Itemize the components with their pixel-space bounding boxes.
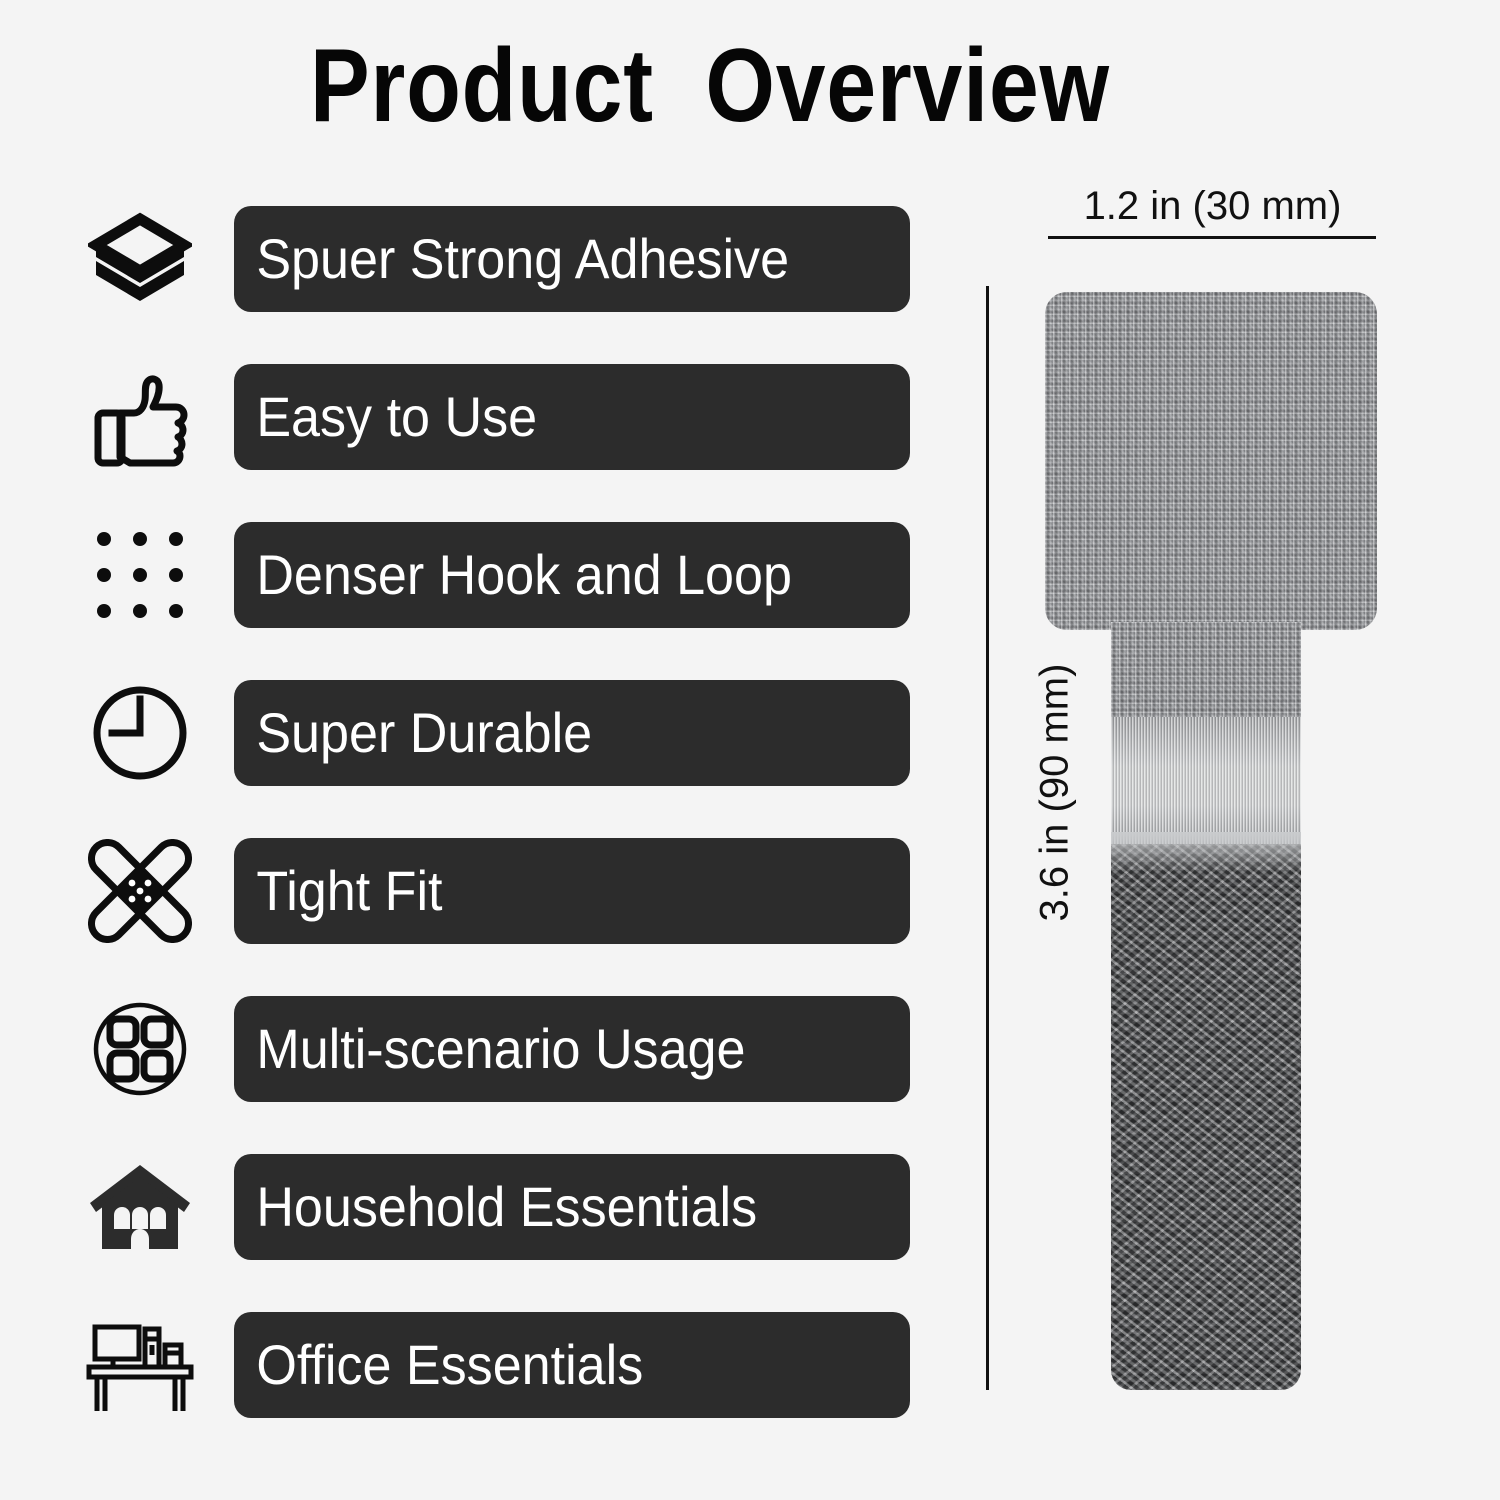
layers-icon [78, 206, 202, 312]
height-dimension-line [986, 286, 989, 1390]
feature-row-adhesive: Spuer Strong Adhesive [0, 206, 960, 364]
strap-hook-section [1111, 844, 1301, 1390]
feature-pill-multi-scenario[interactable]: Multi-scenario Usage [234, 996, 910, 1102]
feature-pill-easy-to-use[interactable]: Easy to Use [234, 364, 910, 470]
feature-pill-durable[interactable]: Super Durable [234, 680, 910, 786]
feature-row-hook-and-loop: Denser Hook and Loop [0, 522, 960, 680]
bandage-cross-icon [78, 838, 202, 944]
feature-pill-office[interactable]: Office Essentials [234, 1312, 910, 1418]
feature-row-office: Office Essentials [0, 1312, 960, 1470]
feature-row-household: Household Essentials [0, 1154, 960, 1312]
feature-label: Multi-scenario Usage [234, 1021, 745, 1077]
grid-circle-icon [78, 996, 202, 1102]
feature-label: Denser Hook and Loop [234, 547, 792, 603]
house-icon [78, 1154, 202, 1260]
feature-list: Spuer Strong Adhesive Easy to Use [0, 206, 960, 1470]
feature-label: Tight Fit [234, 863, 442, 919]
feature-row-tight-fit: Tight Fit [0, 838, 960, 996]
feature-row-multi-scenario: Multi-scenario Usage [0, 996, 960, 1154]
feature-label: Household Essentials [234, 1179, 757, 1235]
feature-label: Super Durable [234, 705, 592, 761]
strap-head-patch [1045, 292, 1377, 630]
feature-pill-adhesive[interactable]: Spuer Strong Adhesive [234, 206, 910, 312]
feature-pill-tight-fit[interactable]: Tight Fit [234, 838, 910, 944]
feature-pill-hook-and-loop[interactable]: Denser Hook and Loop [234, 522, 910, 628]
clock-icon [78, 680, 202, 786]
feature-row-easy-to-use: Easy to Use [0, 364, 960, 522]
dot-grid-icon [78, 522, 202, 628]
width-dimension-line [1048, 236, 1376, 239]
feature-row-durable: Super Durable [0, 680, 960, 838]
feature-label: Easy to Use [234, 389, 537, 445]
strap-neck-section [1111, 622, 1301, 722]
width-dimension-label: 1.2 in (30 mm) [1040, 184, 1385, 229]
feature-label: Office Essentials [234, 1337, 643, 1393]
strap-mid-section [1111, 717, 1301, 847]
product-strap-image [1045, 292, 1377, 1390]
feature-pill-household[interactable]: Household Essentials [234, 1154, 910, 1260]
thumbs-up-icon [78, 364, 202, 470]
office-desk-icon [78, 1312, 202, 1418]
feature-label: Spuer Strong Adhesive [234, 231, 789, 287]
